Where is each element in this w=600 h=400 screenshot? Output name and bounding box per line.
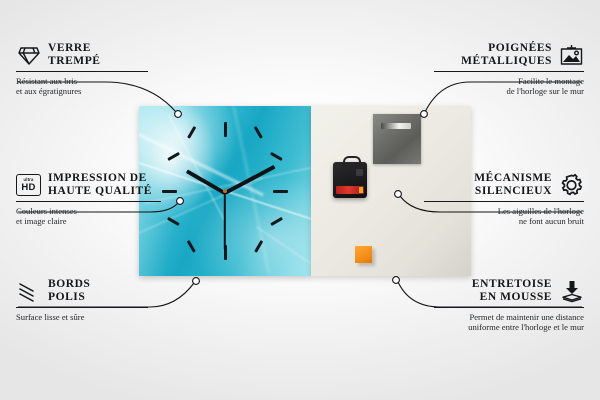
feature-poignees-metalliques: POIGNÉES MÉTALLIQUES Facilite le montage… [434, 42, 584, 96]
clock-mechanism [333, 162, 367, 198]
wall-mount-frame-icon [559, 43, 584, 68]
ultra-hd-icon: ultra HD [16, 173, 41, 198]
feature-title: BORDS POLIS [48, 278, 90, 304]
connector-endpoint [193, 278, 200, 285]
divider [424, 201, 584, 202]
feature-subtitle: Résistant aux bris et aux égratignures [16, 76, 166, 97]
feature-subtitle: Facilite le montage de l'horloge sur le … [434, 76, 584, 97]
product-image [139, 106, 471, 276]
divider [434, 307, 584, 308]
clock-center-pin [223, 189, 227, 193]
hour-marker [187, 240, 196, 253]
feature-subtitle: Les aiguilles de l'horloge ne font aucun… [424, 206, 584, 227]
battery [336, 186, 364, 194]
feature-subtitle: Surface lisse et sûre [16, 312, 166, 322]
feature-title: POIGNÉES MÉTALLIQUES [461, 42, 552, 68]
mechanism-detail [356, 169, 363, 176]
feature-title: MÉCANISME SILENCIEUX [474, 172, 552, 198]
infographic-stage: VERRE TREMPÉ Résistant aux bris et aux é… [0, 0, 600, 400]
feature-title: VERRE TREMPÉ [48, 42, 101, 68]
divider [434, 71, 584, 72]
foam-spacer [355, 246, 372, 263]
connector-endpoint [393, 277, 400, 284]
feature-subtitle: Couleurs intenses et image claire [16, 206, 176, 227]
hour-marker [254, 126, 263, 139]
diamond-icon [16, 43, 41, 68]
divider [16, 71, 148, 72]
foam-spacer-arrow-icon [559, 279, 584, 304]
hour-marker [167, 152, 180, 161]
divider [16, 307, 148, 308]
hour-marker [270, 152, 283, 161]
hour-marker [187, 126, 196, 139]
feature-entretoise-en-mousse: ENTRETOISE EN MOUSSE Permet de maintenir… [434, 278, 584, 332]
hour-marker [224, 122, 227, 137]
hour-hand [186, 169, 226, 195]
feature-mecanisme-silencieux: MÉCANISME SILENCIEUX Les aiguilles de l'… [424, 172, 584, 226]
feature-subtitle: Permet de maintenir une distance uniform… [434, 312, 584, 333]
feature-title: IMPRESSION DE HAUTE QUALITÉ [48, 172, 152, 198]
divider [16, 201, 161, 202]
feature-impression-haute-qualite: ultra HD IMPRESSION DE HAUTE QUALITÉ Cou… [16, 172, 176, 226]
hour-marker [273, 190, 288, 193]
hour-marker [254, 240, 263, 253]
minute-hand [224, 165, 275, 194]
feature-bords-polis: BORDS POLIS Surface lisse et sûre [16, 278, 166, 322]
polished-edges-icon [16, 279, 41, 304]
feature-verre-trempe: VERRE TREMPÉ Résistant aux bris et aux é… [16, 42, 166, 96]
gear-icon [559, 173, 584, 198]
ultra-hd-icon-large-label: HD [21, 183, 35, 193]
second-hand [224, 192, 226, 250]
hanging-loop [343, 156, 361, 167]
hour-marker [270, 217, 283, 226]
metal-hanging-bracket [373, 114, 421, 164]
feature-title: ENTRETOISE EN MOUSSE [472, 278, 552, 304]
